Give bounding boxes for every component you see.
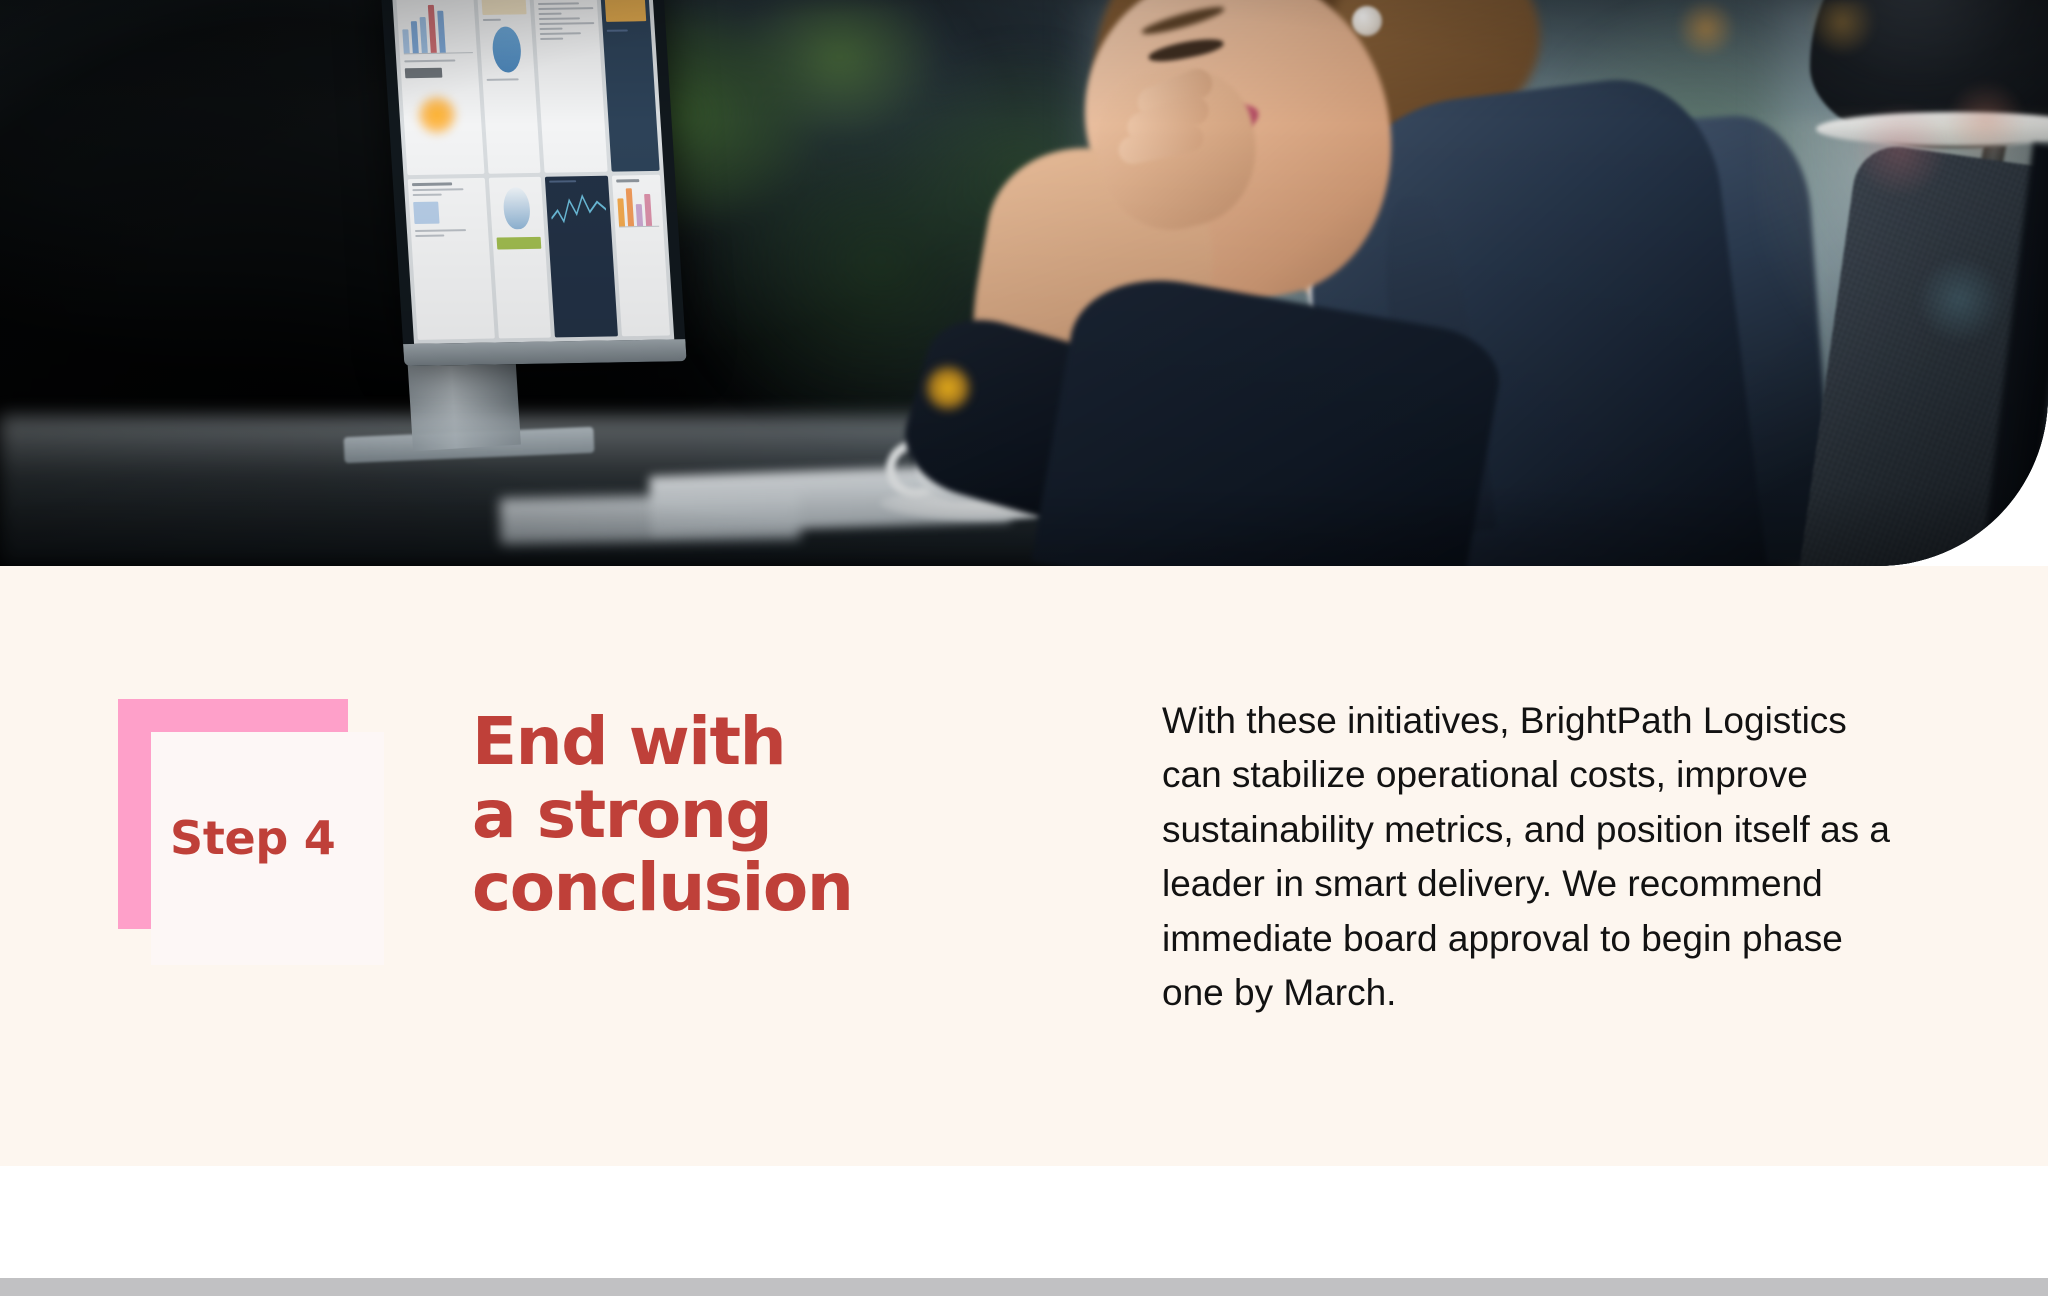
headline-line-2: a strong [472,779,932,852]
hero-image [0,0,2048,566]
step-badge-label: Step 4 [170,811,335,865]
headline-line-1: End with [472,706,932,779]
content-row: Step 4 End with a strong conclusion With… [0,566,2048,1166]
page-title: End with a strong conclusion [472,706,932,925]
bottom-gray-bar [0,1278,2048,1296]
bottom-white-strip [0,1166,2048,1278]
slide: Step 4 End with a strong conclusion With… [0,0,2048,1296]
step-badge: Step 4 [118,699,384,965]
body-paragraph: With these initiatives, BrightPath Logis… [1162,694,1902,1020]
headline-line-3: conclusion [472,852,932,925]
photo-vignette [0,0,2048,566]
hero-photo [0,0,2048,566]
content-panel: Step 4 End with a strong conclusion With… [0,566,2048,1166]
